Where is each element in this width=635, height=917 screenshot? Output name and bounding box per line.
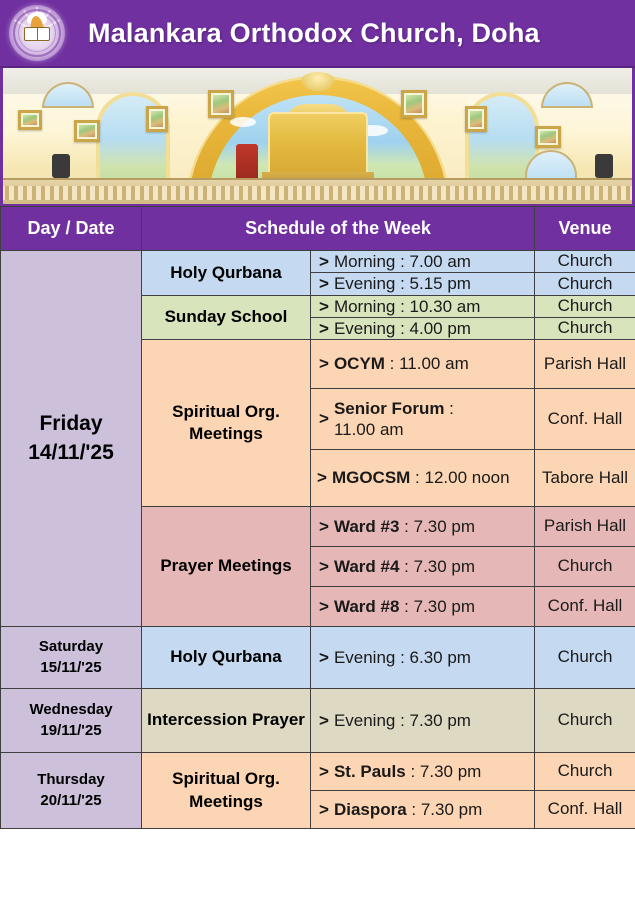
venue-cell: Conf. Hall bbox=[535, 389, 635, 450]
venue-cell: Church bbox=[535, 295, 635, 317]
day-label: Wednesday bbox=[1, 700, 141, 720]
detail-cell: >Evening : 7.30 pm bbox=[311, 689, 535, 753]
bullet-marker: > bbox=[319, 517, 329, 536]
venue-cell: Church bbox=[535, 627, 635, 689]
date-label: 15/11/'25 bbox=[1, 658, 141, 678]
detail-cell: >Morning : 10.30 am bbox=[311, 295, 535, 317]
venue-cell: Church bbox=[535, 273, 635, 295]
detail-cell: >OCYM : 11.00 am bbox=[311, 340, 535, 389]
speaker-icon bbox=[595, 154, 613, 178]
bullet-marker: > bbox=[317, 468, 327, 487]
wall-icon-picture bbox=[465, 106, 487, 132]
venue-cell: Church bbox=[535, 689, 635, 753]
bullet-marker: > bbox=[319, 762, 329, 781]
church-emblem-icon bbox=[9, 5, 65, 61]
table-row: Thursday 20/11/'25 Spiritual Org. Meetin… bbox=[1, 753, 635, 791]
venue-cell: Church bbox=[535, 753, 635, 791]
activity-prayer-meetings: Prayer Meetings bbox=[142, 507, 311, 627]
wall-icon-picture bbox=[208, 90, 234, 118]
day-label: Thursday bbox=[1, 770, 141, 790]
bullet-marker: > bbox=[319, 252, 329, 271]
wall-icon-picture bbox=[146, 106, 168, 132]
detail-cell: >Ward #3 : 7.30 pm bbox=[311, 507, 535, 547]
day-label: Friday bbox=[1, 410, 141, 438]
detail-cell: >Evening : 4.00 pm bbox=[311, 317, 535, 339]
day-date-wednesday: Wednesday 19/11/'25 bbox=[1, 689, 142, 753]
table-row: Wednesday 19/11/'25 Intercession Prayer … bbox=[1, 689, 635, 753]
activity-spiritual-org-meetings: Spiritual Org. Meetings bbox=[142, 753, 311, 829]
activity-holy-qurbana: Holy Qurbana bbox=[142, 251, 311, 296]
venue-cell: Church bbox=[535, 317, 635, 339]
detail-cell: >Ward #4 : 7.30 pm bbox=[311, 547, 535, 587]
church-logo bbox=[6, 4, 68, 62]
bullet-marker: > bbox=[319, 557, 329, 576]
schedule-page: Malankara Orthodox Church, Doha bbox=[0, 0, 635, 917]
speaker-icon bbox=[52, 154, 70, 178]
table-header-row: Day / Date Schedule of the Week Venue bbox=[1, 207, 635, 251]
title-bar: Malankara Orthodox Church, Doha bbox=[0, 0, 635, 68]
table-row: Saturday 15/11/'25 Holy Qurbana >Evening… bbox=[1, 627, 635, 689]
detail-cell: >Diaspora : 7.30 pm bbox=[311, 791, 535, 829]
page-title: Malankara Orthodox Church, Doha bbox=[88, 18, 540, 49]
detail-cell: >Ward #8 : 7.30 pm bbox=[311, 587, 535, 627]
detail-cell: >Morning : 7.00 am bbox=[311, 251, 535, 273]
bullet-marker: > bbox=[319, 800, 329, 819]
venue-cell: Parish Hall bbox=[535, 340, 635, 389]
date-label: 19/11/'25 bbox=[1, 721, 141, 741]
venue-cell: Church bbox=[535, 251, 635, 273]
venue-cell: Conf. Hall bbox=[535, 587, 635, 627]
column-header-venue: Venue bbox=[535, 207, 635, 251]
detail-cell: > Senior Forum : 11.00 am bbox=[311, 389, 535, 450]
bullet-marker: > bbox=[319, 648, 329, 667]
table-row: Friday 14/11/'25 Holy Qurbana >Morning :… bbox=[1, 251, 635, 273]
bullet-marker: > bbox=[319, 597, 329, 616]
day-date-friday: Friday 14/11/'25 bbox=[1, 251, 142, 627]
day-date-saturday: Saturday 15/11/'25 bbox=[1, 627, 142, 689]
detail-cell: >MGOCSM : 12.00 noon bbox=[311, 450, 535, 507]
day-date-thursday: Thursday 20/11/'25 bbox=[1, 753, 142, 829]
wall-icon-picture bbox=[401, 90, 427, 118]
bullet-marker: > bbox=[319, 408, 329, 429]
bullet-marker: > bbox=[319, 319, 329, 338]
venue-cell: Church bbox=[535, 547, 635, 587]
wall-icon-picture bbox=[74, 120, 100, 142]
altar-railing bbox=[0, 178, 635, 204]
wall-icon-picture bbox=[535, 126, 561, 148]
activity-holy-qurbana: Holy Qurbana bbox=[142, 627, 311, 689]
venue-cell: Parish Hall bbox=[535, 507, 635, 547]
detail-cell: >Evening : 5.15 pm bbox=[311, 273, 535, 295]
column-header-schedule: Schedule of the Week bbox=[142, 207, 535, 251]
bullet-marker: > bbox=[319, 274, 329, 293]
activity-intercession-prayer: Intercession Prayer bbox=[142, 689, 311, 753]
activity-spiritual-org-meetings: Spiritual Org. Meetings bbox=[142, 340, 311, 507]
church-interior-photo bbox=[0, 68, 635, 206]
schedule-table: Day / Date Schedule of the Week Venue Fr… bbox=[0, 206, 635, 829]
date-label: 20/11/'25 bbox=[1, 791, 141, 811]
date-label: 14/11/'25 bbox=[1, 439, 141, 467]
venue-cell: Tabore Hall bbox=[535, 450, 635, 507]
column-header-day-date: Day / Date bbox=[1, 207, 142, 251]
detail-cell: >Evening : 6.30 pm bbox=[311, 627, 535, 689]
detail-cell: >St. Pauls : 7.30 pm bbox=[311, 753, 535, 791]
day-label: Saturday bbox=[1, 637, 141, 657]
bullet-marker: > bbox=[319, 711, 329, 730]
book-icon bbox=[24, 27, 50, 41]
bullet-marker: > bbox=[319, 354, 329, 373]
bullet-marker: > bbox=[319, 297, 329, 316]
venue-cell: Conf. Hall bbox=[535, 791, 635, 829]
wall-icon-picture bbox=[18, 110, 42, 130]
chandelier-icon bbox=[300, 72, 336, 92]
activity-sunday-school: Sunday School bbox=[142, 295, 311, 340]
